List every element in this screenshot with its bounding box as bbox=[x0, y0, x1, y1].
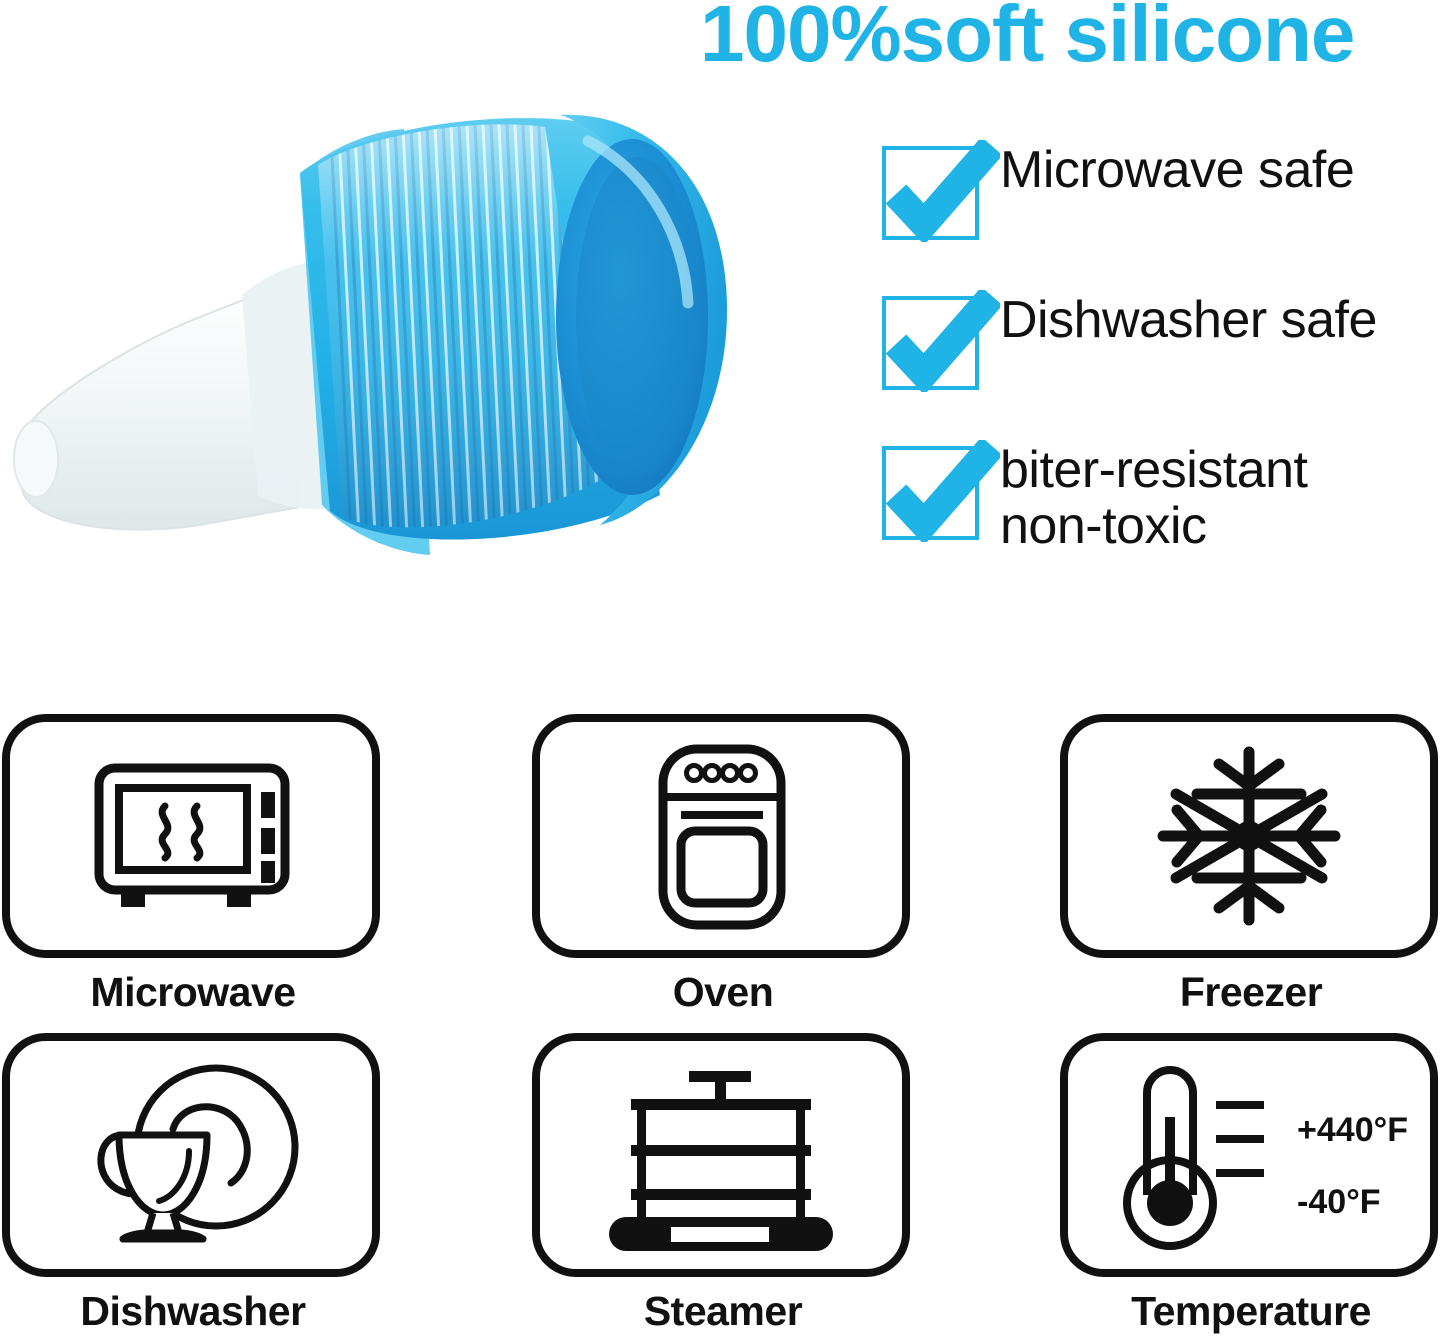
capability-icon-grid: Microwave Oven bbox=[0, 700, 1445, 1342]
checkbox[interactable] bbox=[880, 140, 1000, 242]
capability-cell-oven: Oven bbox=[532, 714, 914, 1015]
plate-and-cup-icon bbox=[41, 1055, 341, 1255]
capability-cell-microwave: Microwave bbox=[2, 714, 384, 1015]
oven-icon bbox=[571, 739, 871, 934]
icon-card bbox=[2, 1033, 380, 1277]
feature-item: Microwave safe bbox=[880, 140, 1445, 242]
product-photo bbox=[0, 55, 760, 585]
capability-cell-freezer: Freezer bbox=[1060, 714, 1442, 1015]
icon-label: Oven bbox=[532, 970, 914, 1015]
steamer-icon bbox=[591, 1057, 851, 1253]
icon-card: +440°F -40°F bbox=[1060, 1033, 1438, 1277]
temperature-readings: +440°F -40°F bbox=[1297, 1113, 1408, 1219]
feature-label: Microwave safe bbox=[1000, 140, 1354, 198]
feature-checklist: Microwave safe Dishwasher safe biter-res… bbox=[880, 140, 1445, 594]
feature-label: biter-resistant non-toxic bbox=[1000, 440, 1308, 554]
checkbox[interactable] bbox=[880, 290, 1000, 392]
icon-label: Dishwasher bbox=[2, 1289, 384, 1334]
checkmark-icon bbox=[880, 290, 1000, 392]
page-title: 100%soft silicone bbox=[700, 0, 1445, 74]
icon-card bbox=[532, 1033, 910, 1277]
capability-cell-steamer: Steamer bbox=[532, 1033, 914, 1334]
icon-label: Steamer bbox=[532, 1289, 914, 1334]
temperature-min: -40°F bbox=[1297, 1185, 1408, 1219]
temperature-max: +440°F bbox=[1297, 1113, 1408, 1147]
icon-label: Microwave bbox=[2, 970, 384, 1015]
icon-card bbox=[532, 714, 910, 958]
feature-label: Dishwasher safe bbox=[1000, 290, 1377, 348]
checkmark-icon bbox=[880, 140, 1000, 242]
product-illustration bbox=[0, 55, 760, 585]
icon-label: Temperature bbox=[1060, 1289, 1442, 1334]
capability-cell-temperature: +440°F -40°F Temperature bbox=[1060, 1033, 1442, 1334]
icon-card bbox=[1060, 714, 1438, 958]
checkbox[interactable] bbox=[880, 440, 1000, 542]
snowflake-icon bbox=[1119, 736, 1379, 936]
feature-item: Dishwasher safe bbox=[880, 290, 1445, 392]
checkmark-icon bbox=[880, 440, 1000, 542]
icon-card bbox=[2, 714, 380, 958]
feature-item: biter-resistant non-toxic bbox=[880, 440, 1445, 554]
capability-cell-dishwasher: Dishwasher bbox=[2, 1033, 384, 1334]
microwave-icon bbox=[41, 746, 341, 926]
icon-label: Freezer bbox=[1060, 970, 1442, 1015]
